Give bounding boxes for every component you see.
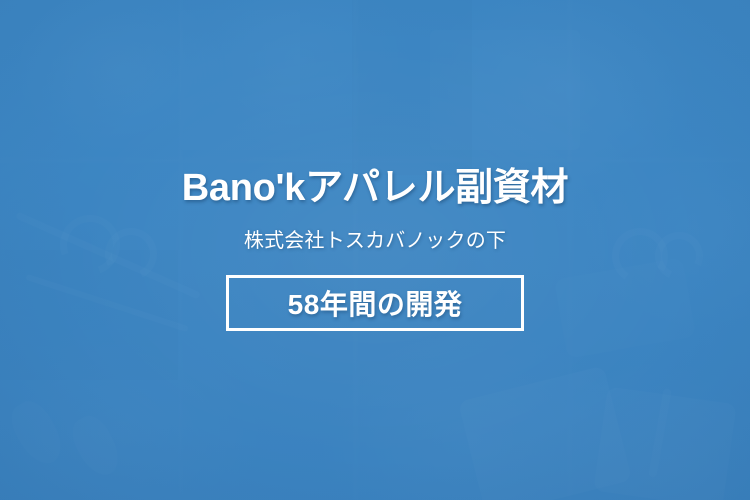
highlight-badge: 58年間の開発 <box>226 275 524 331</box>
hero-banner: Bano'kアパレル副資材 株式会社トスカバノックの下 58年間の開発 <box>0 0 750 500</box>
banner-content: Bano'kアパレル副資材 株式会社トスカバノックの下 58年間の開発 <box>0 0 750 500</box>
page-subtitle: 株式会社トスカバノックの下 <box>244 224 506 253</box>
highlight-badge-label: 58年間の開発 <box>288 283 463 323</box>
page-title: Bano'kアパレル副資材 <box>182 169 569 209</box>
